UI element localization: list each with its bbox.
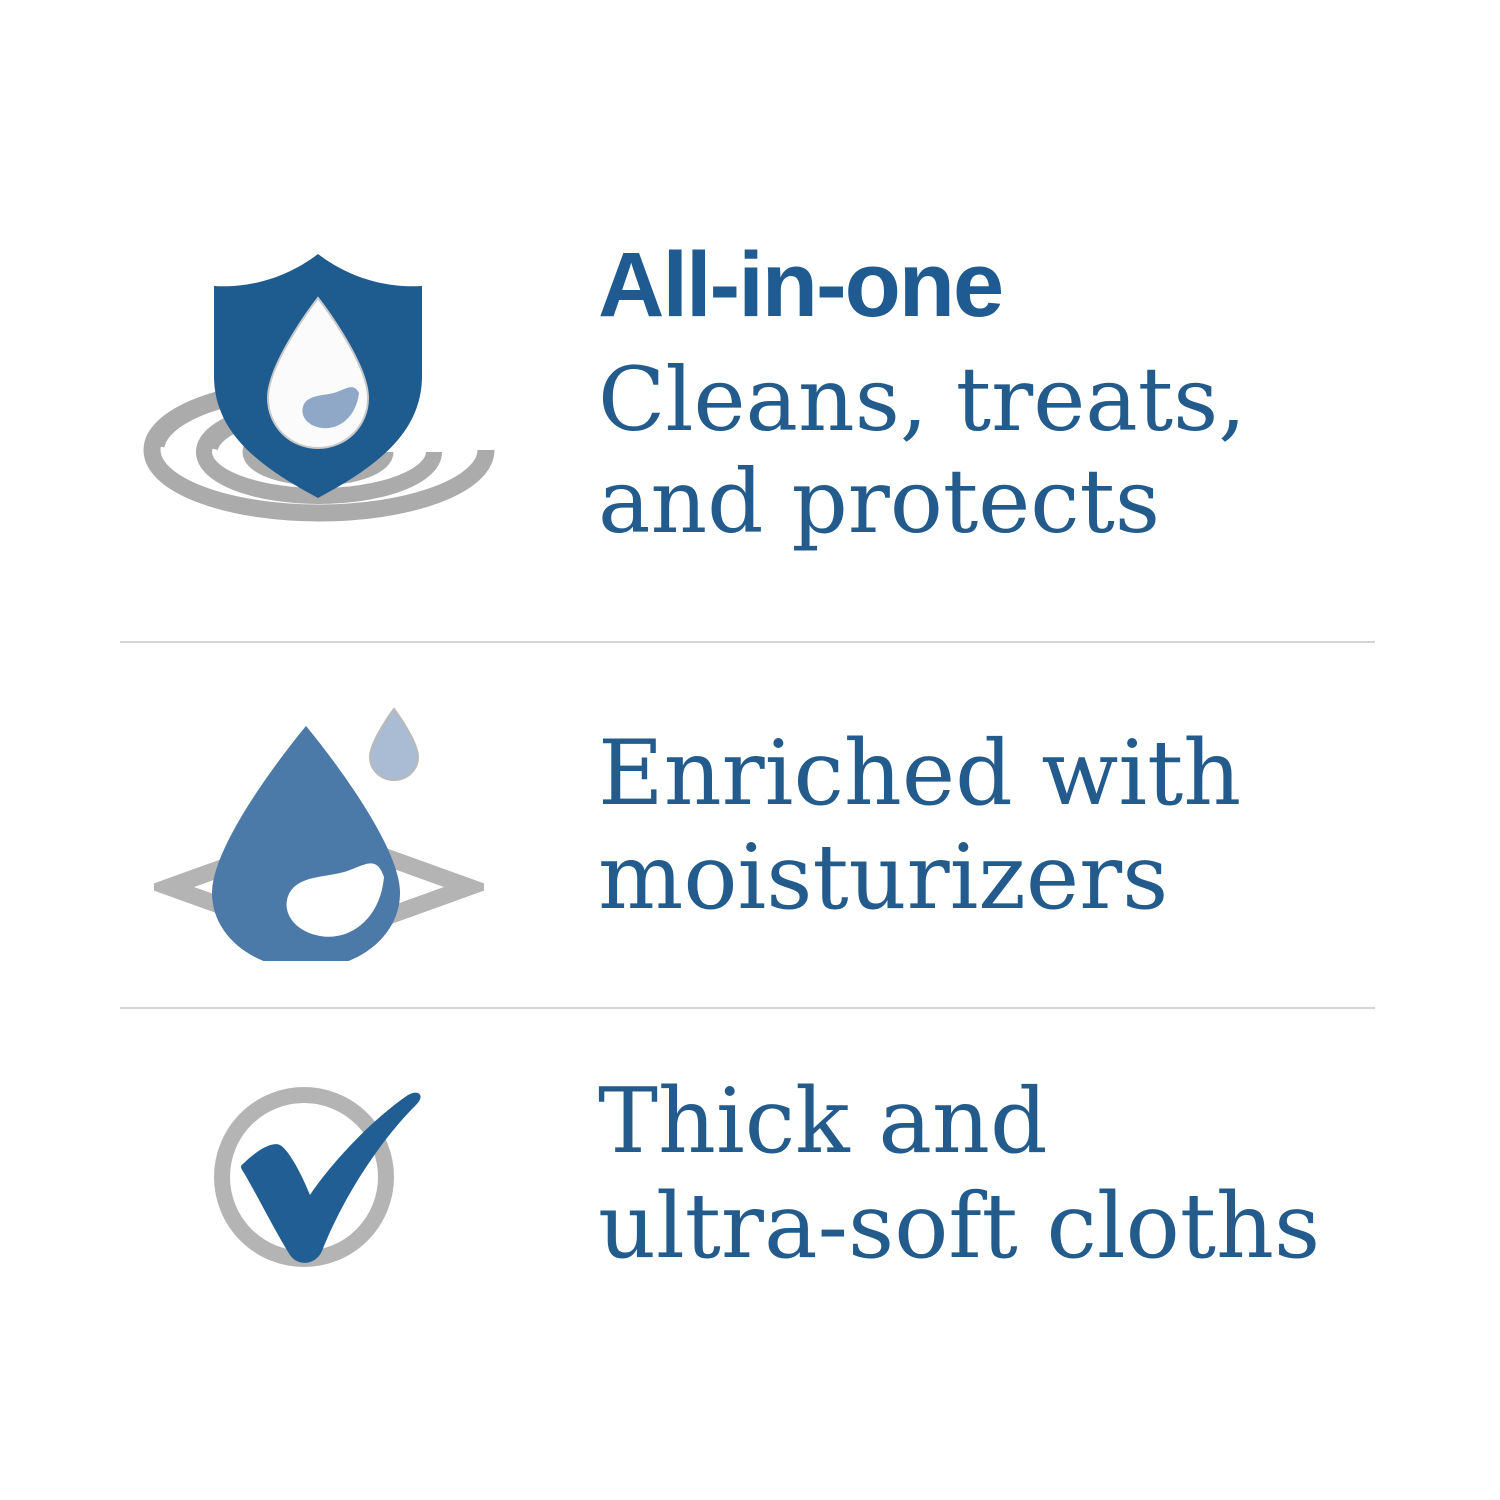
- section-divider: [120, 641, 1375, 643]
- feature-body-line: and protects: [598, 451, 1500, 553]
- feature-icon-cell-2: [0, 676, 598, 976]
- feature-row-all-in-one: All-in-one Cleans, treats, and protects: [0, 196, 1500, 596]
- feature-row-moisturizers: Enriched with moisturizers: [0, 676, 1500, 976]
- section-divider: [120, 1007, 1375, 1009]
- feature-body-2: Enriched with moisturizers: [598, 722, 1500, 931]
- feature-body-line: Enriched with: [598, 722, 1500, 826]
- feature-body-3: Thick and ultra-soft cloths: [598, 1070, 1500, 1279]
- feature-body-line: moisturizers: [598, 826, 1500, 930]
- small-droplet-shape: [370, 709, 418, 780]
- feature-text-cell-2: Enriched with moisturizers: [598, 676, 1500, 976]
- feature-body-line: Thick and: [598, 1070, 1500, 1174]
- feature-text-cell-3: Thick and ultra-soft cloths: [598, 1042, 1500, 1307]
- droplet-on-cloth-icon: [154, 691, 484, 961]
- feature-body-line: Cleans, treats,: [598, 349, 1500, 451]
- feature-icon-cell-3: [0, 1042, 598, 1307]
- shield-droplet-ripple-icon: [134, 246, 504, 546]
- feature-row-cloths: Thick and ultra-soft cloths: [0, 1042, 1500, 1307]
- feature-body-line: ultra-soft cloths: [598, 1175, 1500, 1279]
- feature-text-cell-1: All-in-one Cleans, treats, and protects: [598, 196, 1500, 596]
- feature-icon-cell-1: [0, 196, 598, 596]
- product-feature-infographic: All-in-one Cleans, treats, and protects: [0, 0, 1500, 1500]
- feature-body-1: Cleans, treats, and protects: [598, 349, 1500, 553]
- feature-heading-1: All-in-one: [598, 239, 1500, 331]
- check-circle-icon: [194, 1065, 444, 1285]
